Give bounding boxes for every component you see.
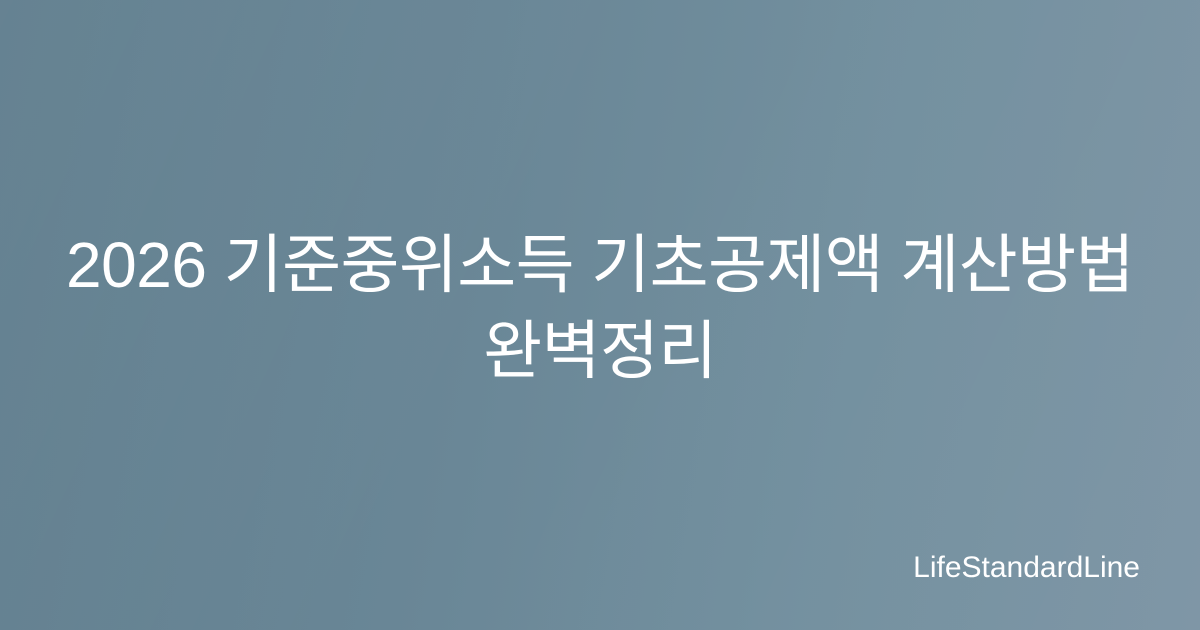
page-title: 2026 기준중위소득 기초공제액 계산방법 완벽정리 bbox=[0, 222, 1200, 394]
brand-name-label: LifeStandardLine bbox=[913, 551, 1140, 585]
title-line-2: 완벽정리 bbox=[60, 308, 1140, 394]
brand-watermark: LifeStandardLine bbox=[913, 551, 1140, 585]
title-line-1: 2026 기준중위소득 기초공제액 계산방법 bbox=[60, 222, 1140, 308]
og-card: 2026 기준중위소득 기초공제액 계산방법 완벽정리 LifeStandard… bbox=[0, 0, 1200, 630]
